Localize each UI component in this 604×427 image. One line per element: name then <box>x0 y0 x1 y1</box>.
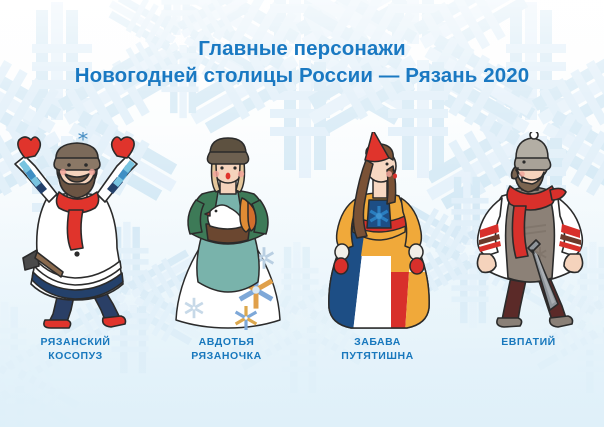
character-avdotya-ryazanochka[interactable] <box>151 132 302 332</box>
label-line-1: ЕВПАТИЙ <box>453 336 604 350</box>
label-line-1: ЗАБАВА <box>302 336 453 350</box>
label-ryazansky-kosopuz: РЯЗАНСКИЙ КОСОПУЗ <box>0 336 151 363</box>
title-line-2: Новогодней столицы России — Рязань 2020 <box>0 63 604 90</box>
title-line-1: Главные персонажи <box>0 36 604 63</box>
label-avdotya-ryazanochka: АВДОТЬЯ РЯЗАНОЧКА <box>151 336 302 363</box>
character-ryazansky-kosopuz[interactable] <box>0 132 151 332</box>
label-line-1: АВДОТЬЯ <box>151 336 302 350</box>
label-line-2: КОСОПУЗ <box>0 350 151 364</box>
character-zabava-putyatishna[interactable] <box>302 132 453 332</box>
label-line-2: ПУТЯТИШНА <box>302 350 453 364</box>
character-labels-row: РЯЗАНСКИЙ КОСОПУЗ АВДОТЬЯ РЯЗАНОЧКА ЗАБА… <box>0 336 604 363</box>
page-title: Главные персонажи Новогодней столицы Рос… <box>0 36 604 89</box>
poster-canvas: Главные персонажи Новогодней столицы Рос… <box>0 0 604 427</box>
label-line-2: РЯЗАНОЧКА <box>151 350 302 364</box>
character-row <box>0 132 604 332</box>
character-evpatiy[interactable] <box>453 132 604 332</box>
label-zabava-putyatishna: ЗАБАВА ПУТЯТИШНА <box>302 336 453 363</box>
label-line-1: РЯЗАНСКИЙ <box>0 336 151 350</box>
label-evpatiy: ЕВПАТИЙ <box>453 336 604 363</box>
